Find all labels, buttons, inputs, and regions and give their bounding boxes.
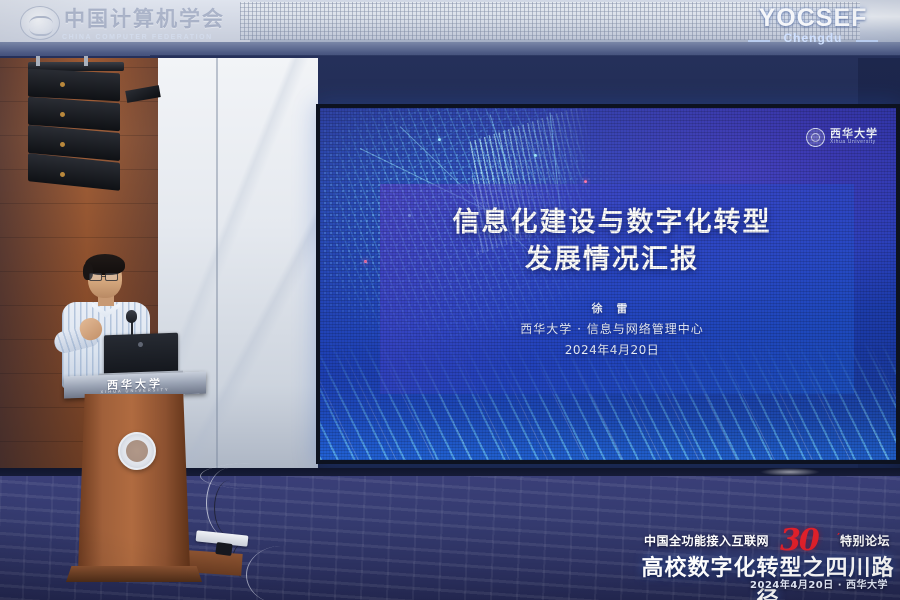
slide-affiliation: 西华大学 · 信息与网络管理中心 <box>320 320 900 337</box>
glasses-icon <box>105 273 118 281</box>
yocsef-logo: YOCSEF Chengdu <box>738 4 888 50</box>
anniversary-tick: ′ <box>837 523 838 553</box>
speaker-driver-dot <box>60 142 65 147</box>
slide-art-node <box>534 154 537 157</box>
banner-top-row: 中国全功能接入互联网 30 ′ 特别论坛 <box>640 532 896 550</box>
speaker-driver-dot <box>60 172 65 177</box>
speaker-driver-dot <box>60 82 65 87</box>
event-banner: 中国全功能接入互联网 30 ′ 特别论坛 高校数字化转型之四川路径 2024年4… <box>640 530 896 594</box>
photo-scene: 中国计算机学会 CHINA COMPUTER FEDERATION YOCSEF… <box>0 0 900 600</box>
banner-main-title: 高校数字化转型之四川路径 <box>640 550 896 600</box>
slide-logo-chinese: 西华大学 <box>830 128 878 139</box>
speaker-driver-dot <box>60 112 65 117</box>
speaker-bolt <box>36 56 40 66</box>
speaker-box <box>28 69 120 102</box>
power-plug <box>215 542 233 556</box>
slide-title-line1: 信息化建设与数字化转型 <box>320 204 900 241</box>
floor-light-reflection <box>760 468 820 476</box>
slide-title: 信息化建设与数字化转型 发展情况汇报 <box>320 204 900 278</box>
glasses-bridge <box>102 276 106 277</box>
banner-headline-left: 中国全功能接入互联网 <box>644 532 769 549</box>
ccf-logo: 中国计算机学会 CHINA COMPUTER FEDERATION <box>14 4 226 48</box>
banner-subline: 2024年4月20日 · 西华大学 <box>640 576 896 591</box>
glasses-icon <box>89 273 102 281</box>
laptop <box>104 333 178 376</box>
microphone <box>126 310 137 323</box>
university-seal-icon <box>806 128 825 147</box>
presenter-hair <box>85 254 125 275</box>
ccf-emblem-icon <box>20 6 60 40</box>
projection-screen: 信息化建设与数字化转型 发展情况汇报 徐 雷 西华大学 · 信息与网络管理中心 … <box>316 104 900 464</box>
podium-body <box>78 394 190 570</box>
slide-date: 2024年4月20日 <box>320 341 900 358</box>
banner-headline-right: 特别论坛 <box>840 532 890 549</box>
slide-art-node <box>438 138 441 141</box>
speaker-bolt <box>84 56 88 66</box>
podium-base <box>66 566 202 582</box>
slide-canvas: 信息化建设与数字化转型 发展情况汇报 徐 雷 西华大学 · 信息与网络管理中心 … <box>320 108 896 460</box>
cable <box>200 463 308 489</box>
wall-marble-seam <box>216 58 218 478</box>
slide-art-node <box>584 180 587 183</box>
xihua-seal-icon <box>118 432 156 470</box>
ccf-logo-chinese: 中国计算机学会 <box>64 4 224 36</box>
slide-logo-english: Xihua University <box>830 139 878 146</box>
slide-presenter-name: 徐 雷 <box>320 300 900 316</box>
slide-title-line2: 发展情况汇报 <box>320 241 900 278</box>
yocsef-wordmark: YOCSEF <box>738 4 888 32</box>
yocsef-city-label: Chengdu <box>738 31 888 45</box>
slide-university-logo: 西华大学 Xihua University <box>806 126 878 148</box>
ccf-logo-english: CHINA COMPUTER FEDERATION <box>62 34 242 41</box>
line-array-speaker <box>28 62 134 192</box>
